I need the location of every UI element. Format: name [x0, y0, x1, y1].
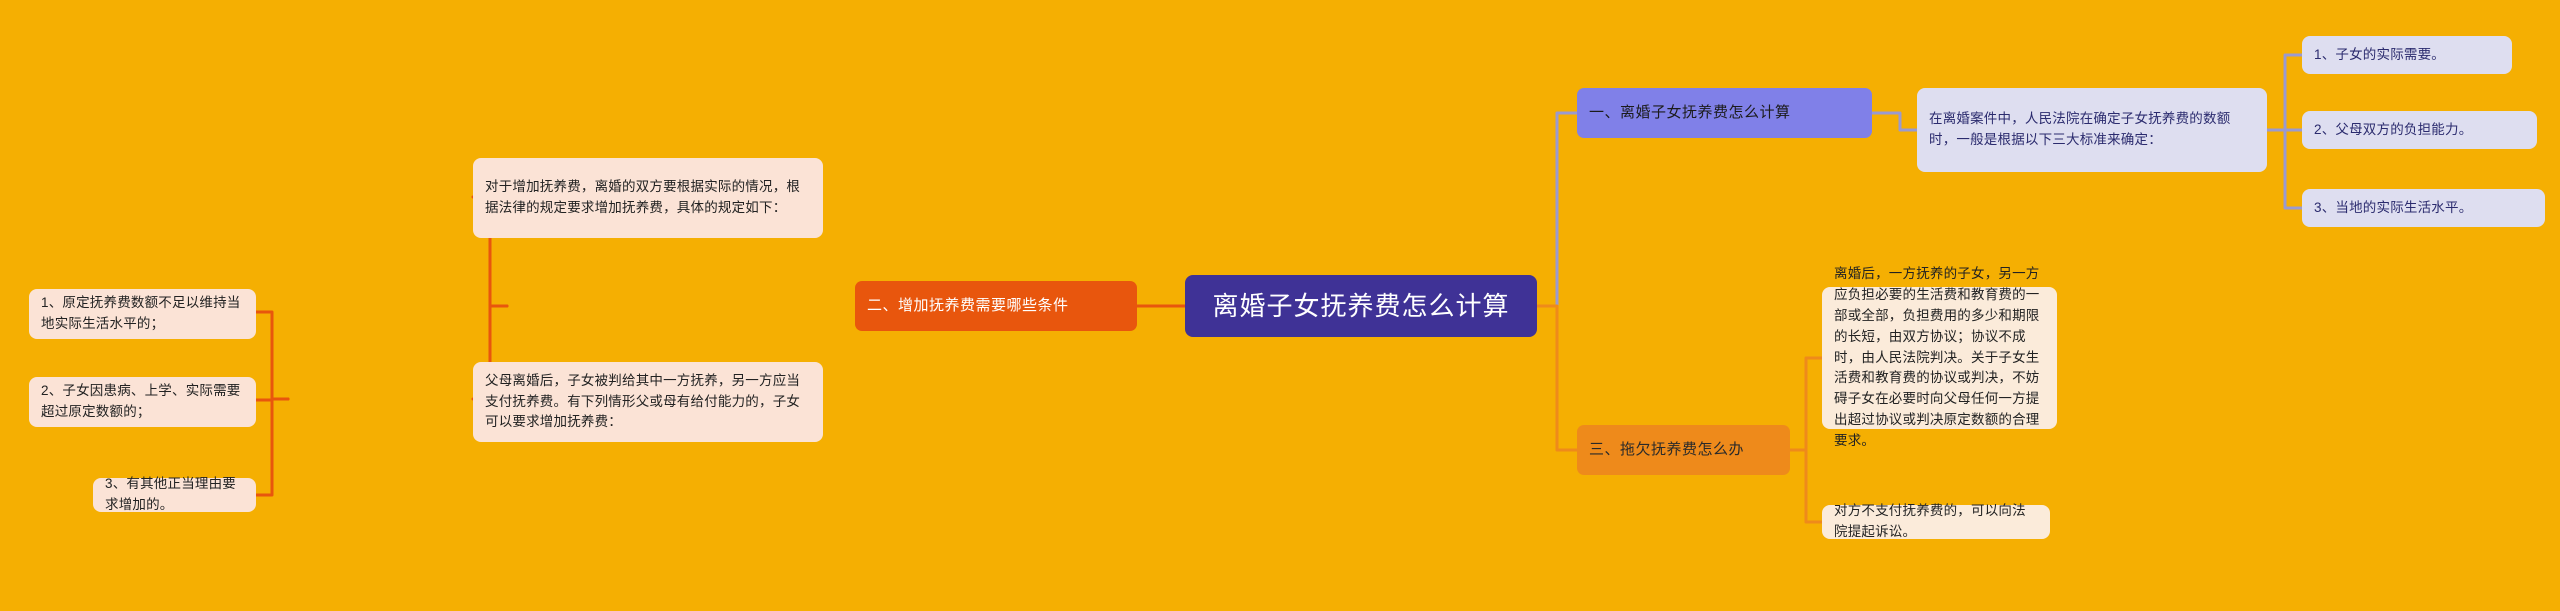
branch-1-description-label: 在离婚案件中，人民法院在确定子女抚养费的数额时，一般是根据以下三大标准来确定：	[1929, 109, 2255, 151]
mindmap-canvas: 离婚子女抚养费怎么计算 一、离婚子女抚养费怎么计算 在离婚案件中，人民法院在确定…	[0, 0, 2560, 611]
edge-branch3-to-desc2	[1790, 450, 1822, 522]
branch-3-description-1[interactable]: 离婚后，一方抚养的子女，另一方应负担必要的生活费和教育费的一部或全部，负担费用的…	[1822, 287, 2057, 429]
root-node-label: 离婚子女抚养费怎么计算	[1203, 290, 1519, 323]
branch-2-leaf-1[interactable]: 1、原定抚养费数额不足以维持当地实际生活水平的；	[29, 289, 256, 339]
branch-2-description-2[interactable]: 父母离婚后，子女被判给其中一方抚养，另一方应当支付抚养费。有下列情形父或母有给付…	[473, 362, 823, 442]
branch-node-1-label: 一、离婚子女抚养费怎么计算	[1589, 103, 1860, 123]
branch-3-description-2-label: 对方不支付抚养费的，可以向法院提起诉讼。	[1834, 501, 2038, 543]
root-node[interactable]: 离婚子女抚养费怎么计算	[1185, 275, 1537, 337]
branch-2-leaf-3[interactable]: 3、有其他正当理由要求增加的。	[93, 478, 256, 512]
branch-3-description-1-label: 离婚后，一方抚养的子女，另一方应负担必要的生活费和教育费的一部或全部，负担费用的…	[1834, 264, 2045, 452]
edge-branch3-to-desc1	[1790, 358, 1822, 450]
branch-2-leaf-2-label: 2、子女因患病、上学、实际需要超过原定数额的；	[41, 381, 244, 423]
branch-2-leaf-3-label: 3、有其他正当理由要求增加的。	[105, 474, 244, 516]
branch-1-description[interactable]: 在离婚案件中，人民法院在确定子女抚养费的数额时，一般是根据以下三大标准来确定：	[1917, 88, 2267, 172]
branch-2-leaf-2[interactable]: 2、子女因患病、上学、实际需要超过原定数额的；	[29, 377, 256, 427]
edge-branch1-to-desc	[1872, 113, 1917, 130]
branch-2-leaf-1-label: 1、原定抚养费数额不足以维持当地实际生活水平的；	[41, 293, 244, 335]
branch-node-3[interactable]: 三、拖欠抚养费怎么办	[1577, 425, 1790, 475]
branch-node-2-label: 二、增加抚养费需要哪些条件	[867, 296, 1125, 316]
branch-1-leaf-2-label: 2、父母双方的负担能力。	[2314, 120, 2525, 141]
branch-node-2[interactable]: 二、增加抚养费需要哪些条件	[855, 281, 1137, 331]
branch-1-leaf-3[interactable]: 3、当地的实际生活水平。	[2302, 189, 2545, 227]
branch-node-3-label: 三、拖欠抚养费怎么办	[1589, 440, 1778, 460]
branch-2-description-1[interactable]: 对于增加抚养费，离婚的双方要根据实际的情况，根据法律的规定要求增加抚养费，具体的…	[473, 158, 823, 238]
edge-desc2-to-leaf2	[256, 399, 288, 400]
branch-1-leaf-2[interactable]: 2、父母双方的负担能力。	[2302, 111, 2537, 149]
branch-1-leaf-3-label: 3、当地的实际生活水平。	[2314, 198, 2533, 219]
branch-2-description-1-label: 对于增加抚养费，离婚的双方要根据实际的情况，根据法律的规定要求增加抚养费，具体的…	[485, 177, 811, 219]
edge-desc2-to-leaf1	[256, 312, 288, 399]
branch-1-leaf-1-label: 1、子女的实际需要。	[2314, 45, 2500, 66]
branch-3-description-2[interactable]: 对方不支付抚养费的，可以向法院提起诉讼。	[1822, 505, 2050, 539]
edge-desc-to-leaf3	[2267, 130, 2302, 208]
branch-node-1[interactable]: 一、离婚子女抚养费怎么计算	[1577, 88, 1872, 138]
branch-2-description-2-label: 父母离婚后，子女被判给其中一方抚养，另一方应当支付抚养费。有下列情形父或母有给付…	[485, 371, 811, 434]
edge-desc2-to-leaf3	[256, 399, 288, 495]
edge-desc-to-leaf1	[2267, 55, 2302, 130]
branch-1-leaf-1[interactable]: 1、子女的实际需要。	[2302, 36, 2512, 74]
edge-root-to-branch1	[1537, 113, 1577, 306]
edge-root-to-branch3	[1537, 306, 1577, 450]
